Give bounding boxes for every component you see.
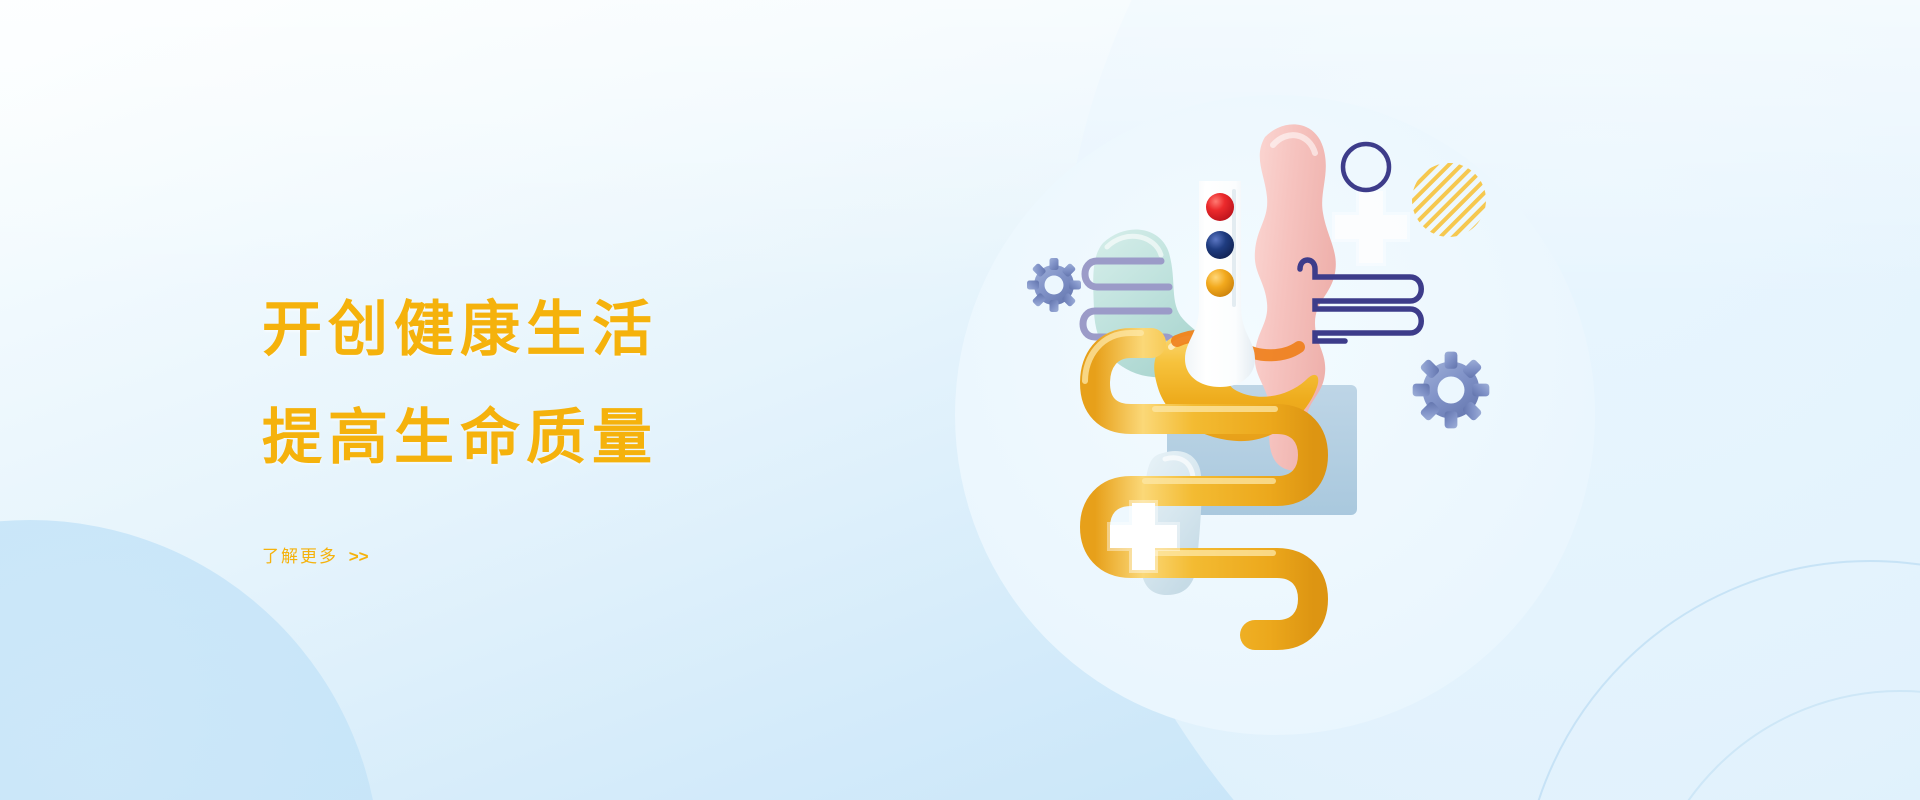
hero-copy: 开创健康生活 提高生命质量 了解更多 >> [262, 300, 882, 567]
hero-banner: 开创健康生活 提高生命质量 了解更多 >> [0, 0, 1920, 800]
navy-ring-icon [1343, 144, 1389, 190]
headline-line-2: 提高生命质量 [262, 408, 882, 468]
headline-line-1: 开创健康生活 [262, 300, 882, 360]
learn-more-label: 了解更多 [262, 547, 338, 566]
gear-small-icon [1027, 258, 1081, 312]
hero-illustration [955, 95, 1615, 755]
hatched-circle-icon [1405, 156, 1493, 244]
learn-more-arrows-icon: >> [349, 547, 369, 566]
test-tube-shape [1185, 181, 1255, 387]
cross-top-icon [1335, 191, 1407, 263]
learn-more-link[interactable]: 了解更多 >> [262, 542, 369, 567]
illustration-graphic [955, 95, 1615, 755]
gear-large-icon [1413, 352, 1490, 429]
